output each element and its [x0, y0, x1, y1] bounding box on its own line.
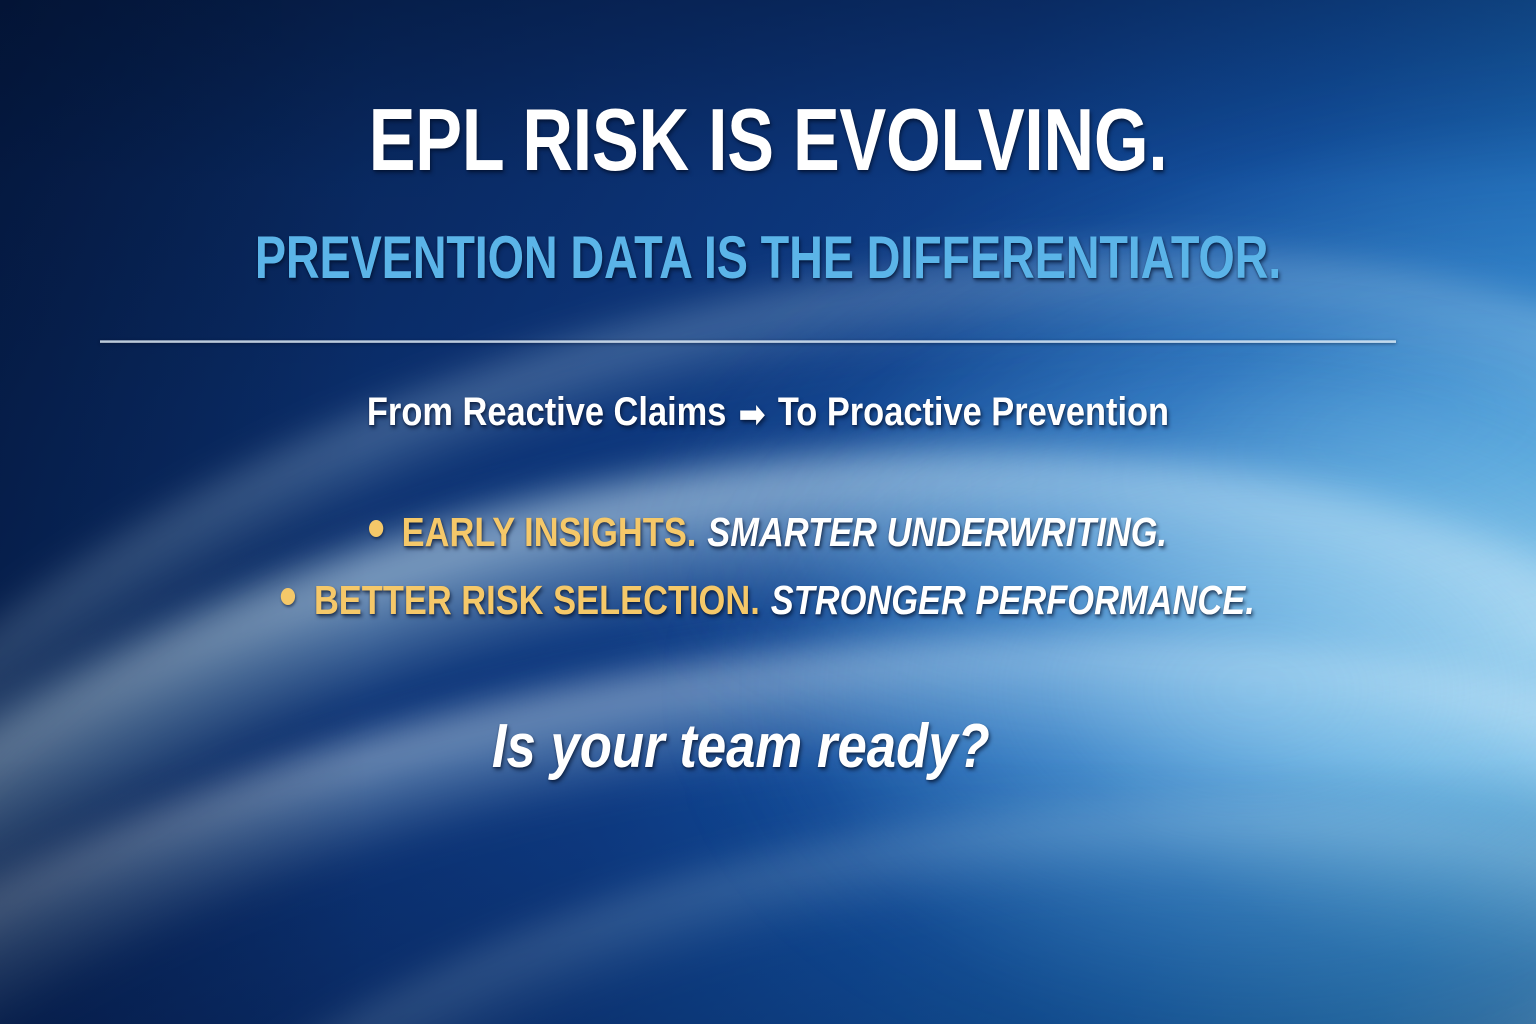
bullet-list: EARLY INSIGHTS.SMARTER UNDERWRITING. BET…	[0, 512, 1536, 648]
right-arrow-icon: ➡	[738, 396, 765, 434]
bullet-lead-text: EARLY INSIGHTS.	[402, 509, 697, 555]
divider-rule	[100, 340, 1396, 343]
closing-question: Is your team ready?	[88, 716, 1394, 778]
list-item: BETTER RISK SELECTION.STRONGER PERFORMAN…	[123, 580, 1413, 622]
bullet-tail-text: STRONGER PERFORMANCE.	[771, 577, 1255, 623]
subheadline: PREVENTION DATA IS THE DIFFERENTIATOR.	[169, 228, 1367, 288]
bullet-tail-text: SMARTER UNDERWRITING.	[707, 509, 1167, 555]
tagline-after: To Proactive Prevention	[778, 390, 1169, 434]
bullet-dot-icon	[369, 520, 383, 537]
bullet-dot-icon	[281, 588, 295, 605]
tagline-before: From Reactive Claims	[367, 390, 726, 434]
tagline: From Reactive Claims➡To Proactive Preven…	[108, 392, 1429, 434]
slide-canvas: EPL RISK IS EVOLVING. PREVENTION DATA IS…	[0, 0, 1536, 1024]
headline: EPL RISK IS EVOLVING.	[154, 96, 1383, 184]
list-item: EARLY INSIGHTS.SMARTER UNDERWRITING.	[123, 512, 1413, 554]
bullet-lead-text: BETTER RISK SELECTION.	[314, 577, 760, 623]
slide-content: EPL RISK IS EVOLVING. PREVENTION DATA IS…	[0, 0, 1536, 1024]
